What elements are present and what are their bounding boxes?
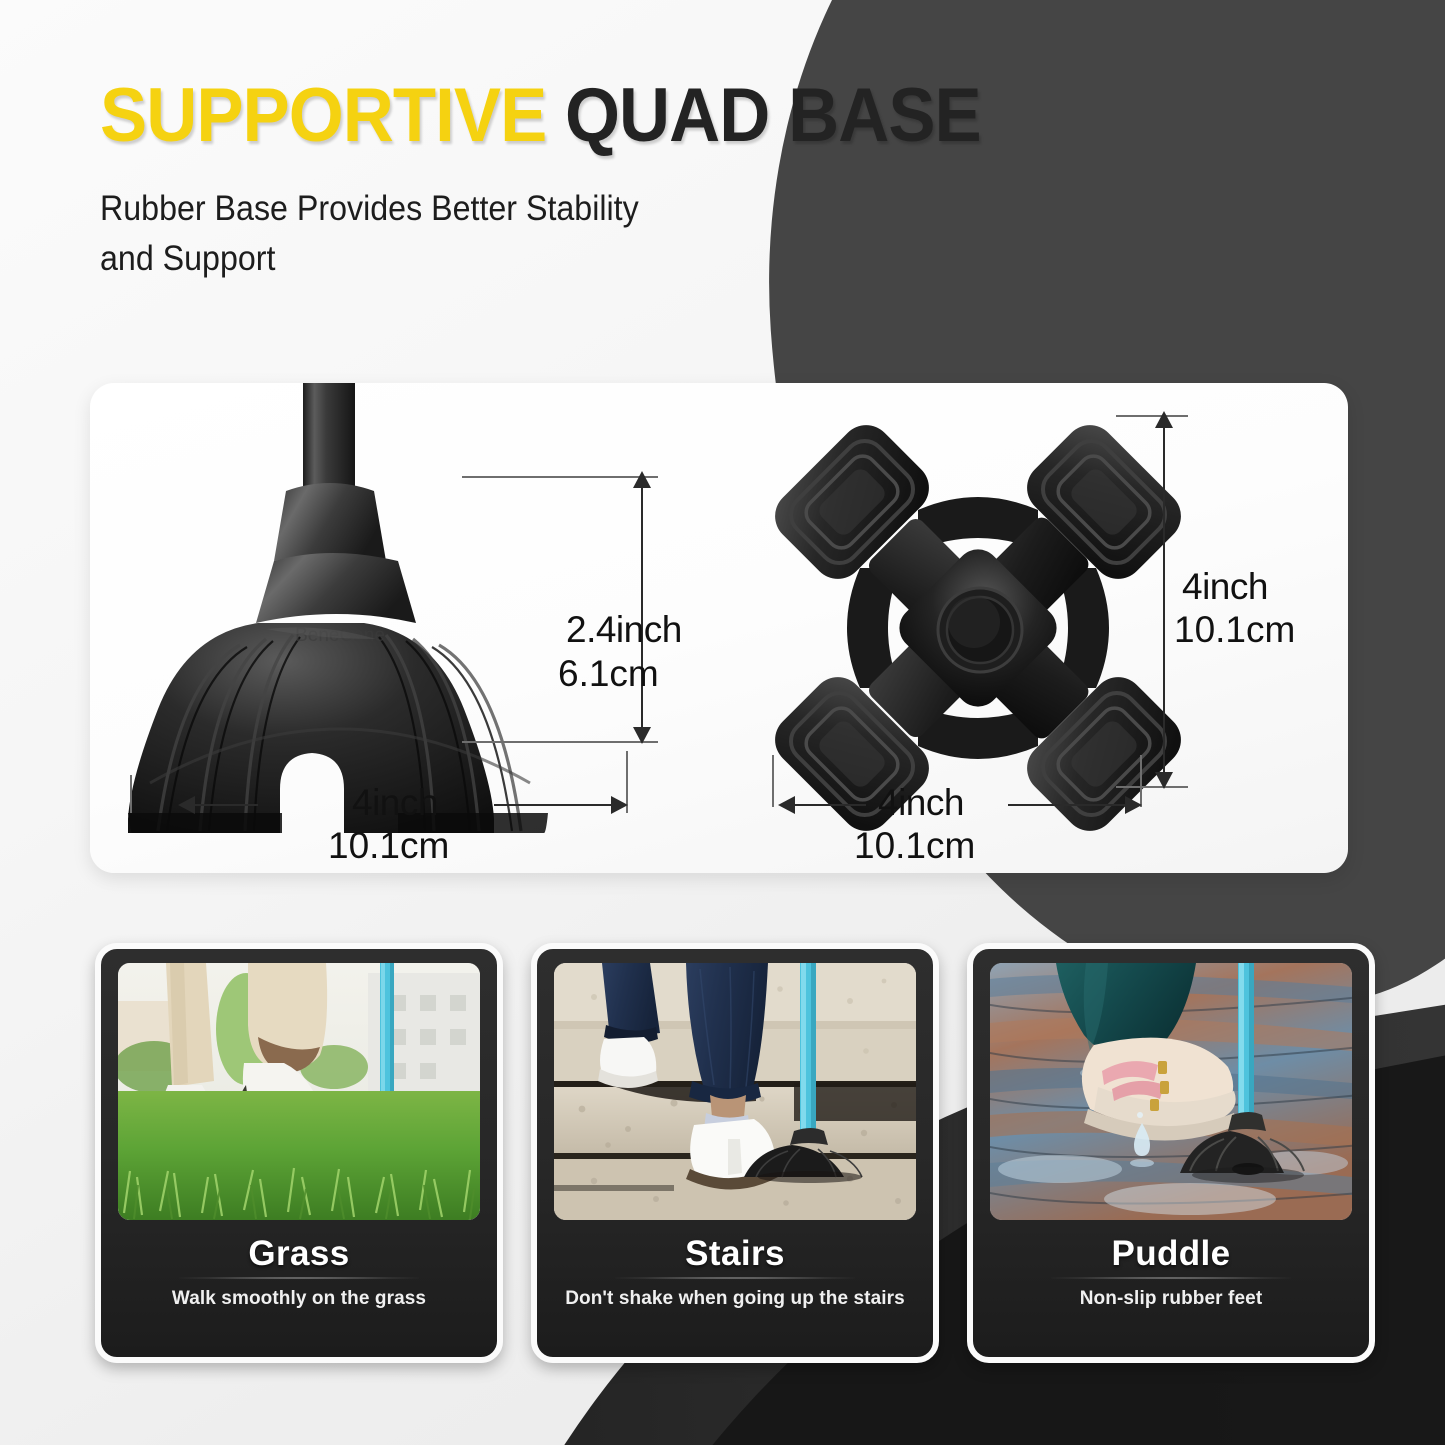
infographic-canvas: SUPPORTIVE QUAD BASE Rubber Base Provide… [0, 0, 1445, 1445]
card-subtitle-grass: Walk smoothly on the grass [172, 1288, 426, 1310]
header: SUPPORTIVE QUAD BASE Rubber Base Provide… [100, 78, 1320, 283]
side-view-height-cm-label: 6.1cm [558, 655, 659, 693]
bottom-view-figure: 4inch 10.1cm 4inch 10.1cm [730, 383, 1348, 873]
feature-card-grass[interactable]: Grass Walk smoothly on the grass [95, 943, 503, 1363]
page-title-highlight: SUPPORTIVE [100, 73, 546, 158]
bottom-view-width-arrow-left [778, 796, 795, 814]
side-view-height-arrow-up [633, 471, 651, 488]
page-title-rest: QUAD BASE [565, 73, 981, 158]
side-view-height-inch-label: 2.4inch [566, 611, 682, 649]
bottom-view-height-arrow-down [1155, 772, 1173, 789]
bottom-view-height-arrow-up [1155, 411, 1173, 428]
card-divider-stairs [615, 1277, 855, 1279]
bottom-view-width-line-left [788, 804, 866, 806]
product-dimensions-panel: BeneCane 2.4inch 6.1cm 4inch 10.1cm [90, 383, 1348, 873]
stairs-photo [554, 963, 916, 1220]
card-divider-grass [179, 1277, 419, 1279]
side-view-height-arrow-down [633, 727, 651, 744]
card-title-stairs: Stairs [685, 1234, 785, 1274]
side-view-width-arrow-right [611, 796, 628, 814]
side-view-width-cm-label: 10.1cm [328, 827, 449, 865]
feature-card-stairs[interactable]: Stairs Don't shake when going up the sta… [531, 943, 939, 1363]
bottom-view-height-cm-label: 10.1cm [1174, 611, 1295, 649]
feature-cards: Grass Walk smoothly on the grass [95, 943, 1375, 1363]
page-subtitle-line-1: Rubber Base Provides Better Stability [100, 184, 854, 234]
card-title-puddle: Puddle [1111, 1234, 1230, 1274]
bottom-view-height-ext-top [1116, 415, 1188, 417]
page-title: SUPPORTIVE QUAD BASE [100, 78, 1235, 154]
side-view-height-ext-top [462, 476, 658, 478]
side-view-width-ext-left [130, 775, 132, 813]
puddle-photo [990, 963, 1352, 1220]
bottom-view-height-inch-label: 4inch [1182, 568, 1268, 606]
side-view-width-line-left [188, 804, 258, 806]
bottom-view-width-arrow-right [1125, 796, 1142, 814]
bottom-view-width-ext-left [772, 755, 774, 807]
bottom-view-width-line-right [1008, 804, 1132, 806]
feature-card-puddle[interactable]: Puddle Non-slip rubber feet [967, 943, 1375, 1363]
side-view-width-line-right [494, 804, 618, 806]
card-subtitle-stairs: Don't shake when going up the stairs [565, 1288, 905, 1310]
side-view-height-dimension-line [641, 483, 643, 733]
card-title-grass: Grass [248, 1234, 349, 1274]
side-view-width-arrow-left [178, 796, 195, 814]
bottom-view-height-ext-bottom [1116, 786, 1188, 788]
side-view-figure: BeneCane 2.4inch 6.1cm 4inch 10.1cm [90, 383, 730, 873]
side-view-width-inch-label: 4inch [352, 784, 438, 822]
grass-photo [118, 963, 480, 1220]
bottom-view-width-cm-label: 10.1cm [854, 827, 975, 865]
side-view-height-ext-bottom [462, 741, 658, 743]
bottom-view-height-dimension-line [1163, 423, 1165, 779]
card-divider-puddle [1051, 1277, 1291, 1279]
page-subtitle: Rubber Base Provides Better Stability an… [100, 184, 854, 283]
page-subtitle-line-2: and Support [100, 234, 854, 284]
bottom-view-width-inch-label: 4inch [878, 784, 964, 822]
card-subtitle-puddle: Non-slip rubber feet [1080, 1288, 1263, 1310]
